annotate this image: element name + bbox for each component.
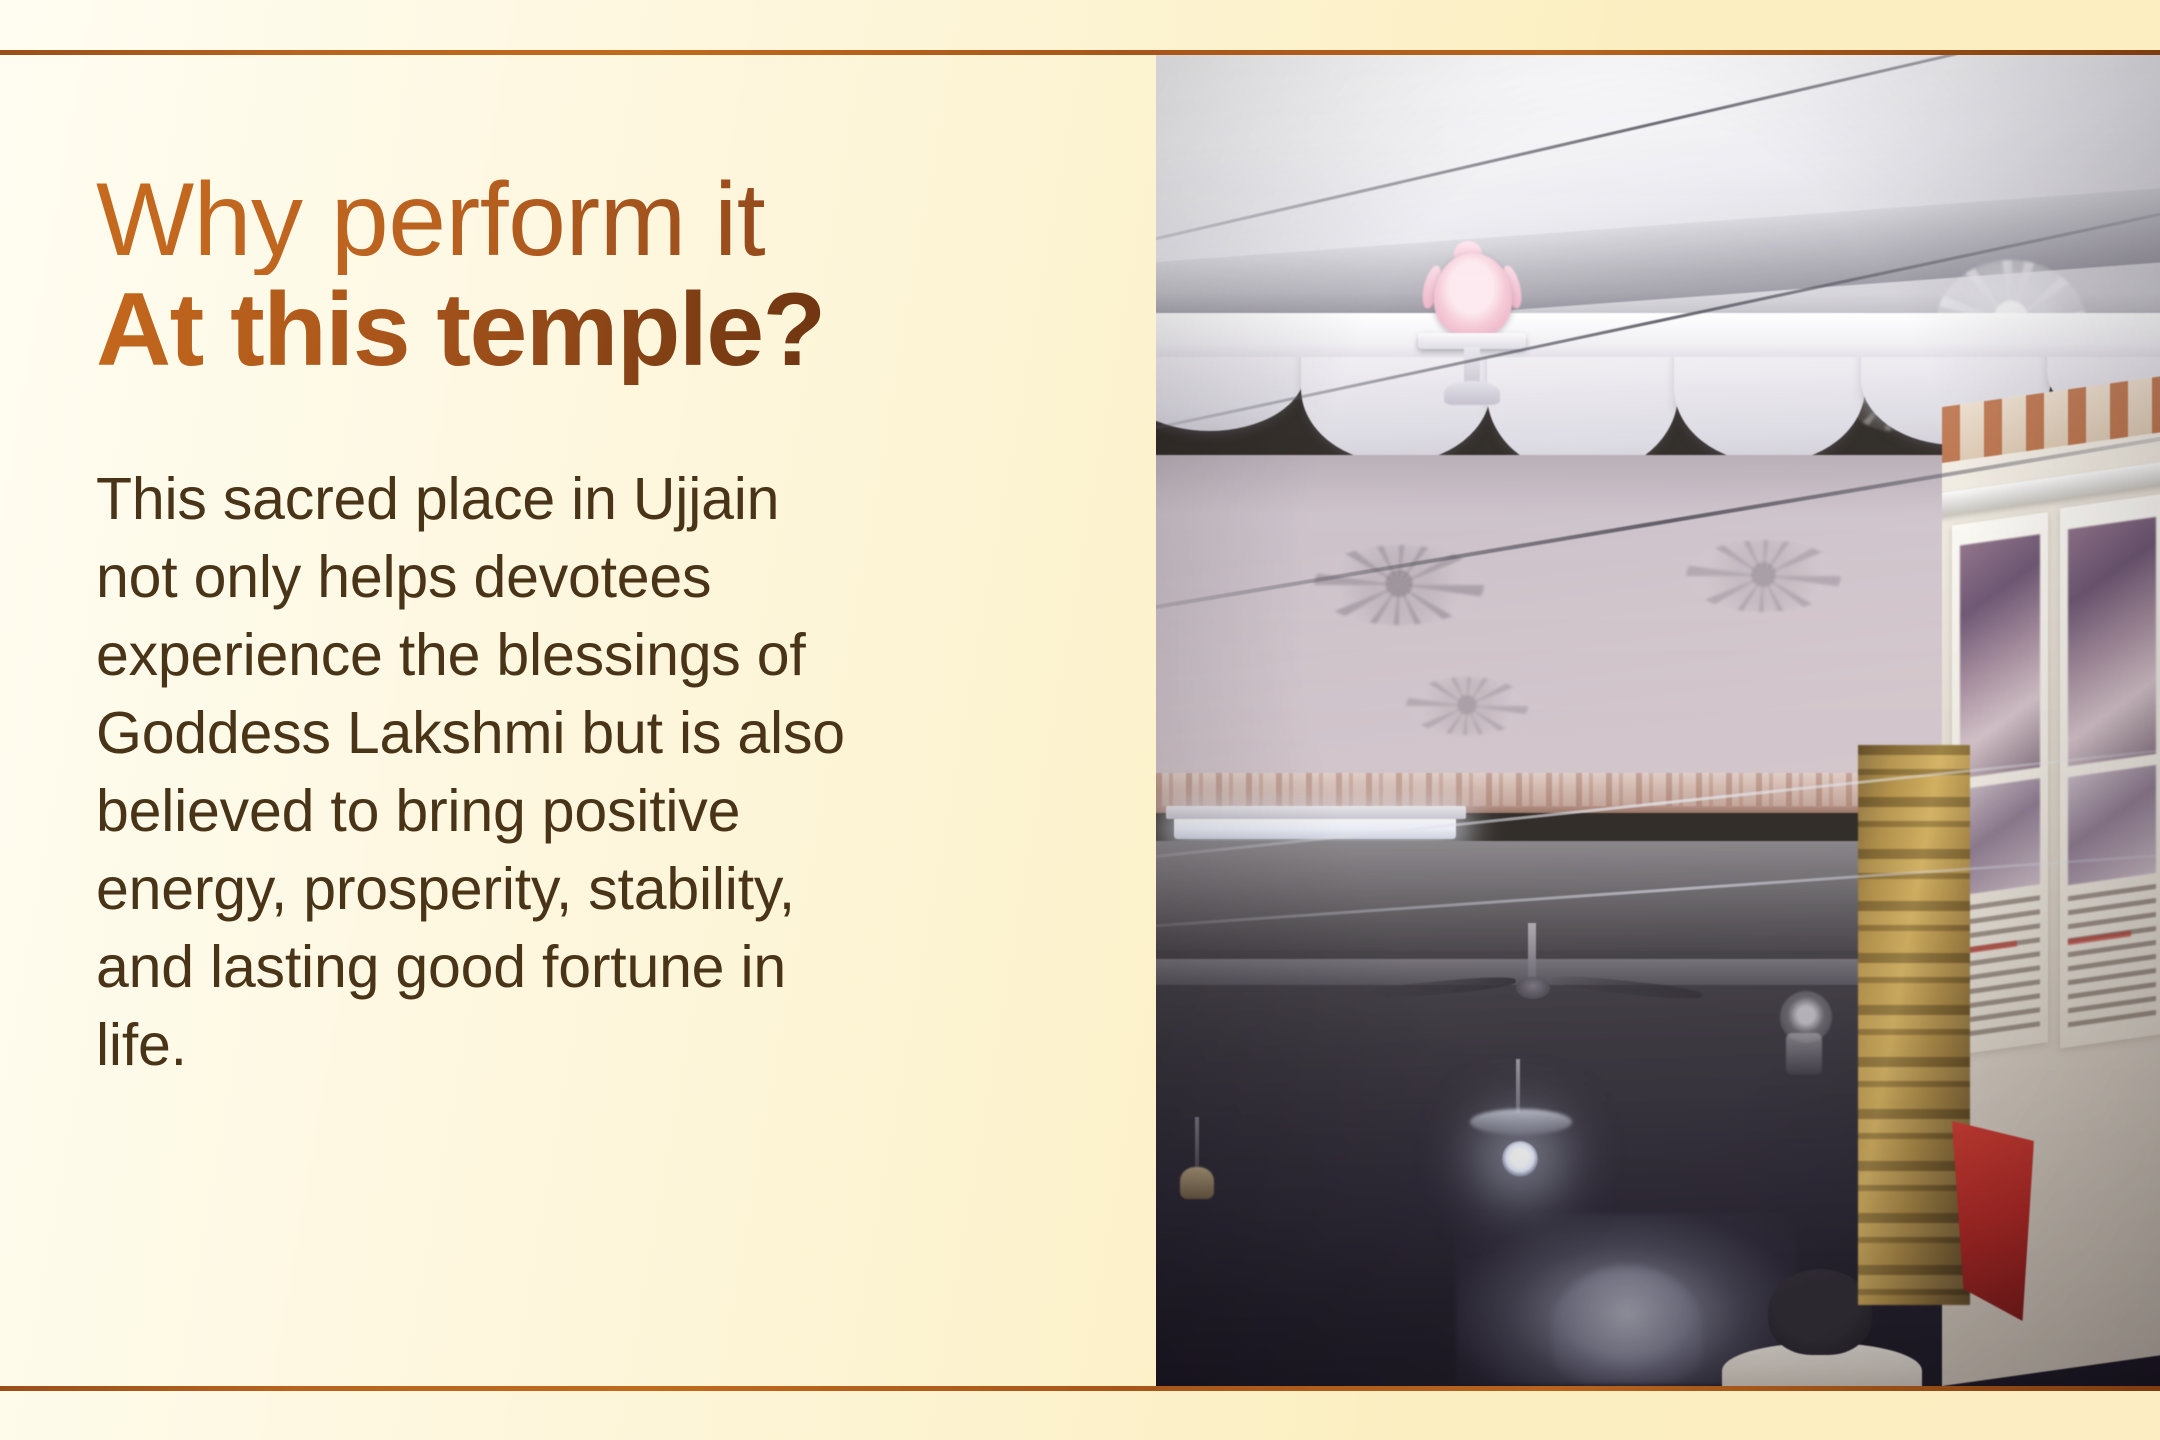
- banner-photo: [1960, 534, 2041, 779]
- fan-blade: [1366, 974, 1517, 1000]
- fan-blade: [1552, 973, 1703, 1002]
- devotee-head: [1768, 1269, 1872, 1355]
- idol-bracket-base: [1444, 381, 1500, 405]
- wall-fan-mount: [1786, 1033, 1822, 1075]
- lamp-shade: [1470, 1109, 1572, 1135]
- deity-silhouette: [1552, 1265, 1702, 1383]
- column-carving: [1858, 745, 1970, 1305]
- tube-bracket: [1166, 806, 1466, 819]
- slide-canvas: Why perform it At this temple? This sacr…: [0, 0, 2160, 1440]
- idol-figure: [1434, 253, 1512, 335]
- banner-text: [1960, 895, 2041, 1044]
- bell-rope: [1195, 1117, 1199, 1169]
- headline-line-2: At this temple?: [96, 275, 1066, 385]
- ganesha-idol: [1418, 253, 1526, 403]
- hanging-lamp: [1464, 1065, 1574, 1193]
- temple-photo: [1156, 55, 2160, 1386]
- carved-column: [1858, 745, 1970, 1305]
- fan-down-rod: [1528, 923, 1536, 979]
- banner-text: [2068, 884, 2155, 1037]
- temple-bell-small: [1178, 1159, 1218, 1205]
- hindi-banner: [2060, 494, 2160, 1049]
- body-paragraph: This sacred place in Ujjain not only hel…: [96, 461, 876, 1084]
- lamp-cord: [1516, 1059, 1520, 1113]
- fan-hub: [1516, 977, 1550, 999]
- ceiling-fan: [1370, 969, 1700, 1041]
- bell-body: [1180, 1167, 1214, 1199]
- top-divider-rule: [0, 50, 2160, 55]
- page-title: Why perform it At this temple?: [96, 165, 1066, 385]
- bottom-divider-rule: [0, 1386, 2160, 1391]
- ceiling-medallion: [1406, 677, 1528, 735]
- lamp-bulb: [1502, 1141, 1538, 1177]
- banner-photo: [2068, 765, 2155, 885]
- headline-line-1: Why perform it: [96, 165, 1066, 275]
- banner-photo: [1960, 778, 2041, 895]
- banner-photo: [2068, 517, 2155, 767]
- text-panel: Why perform it At this temple? This sacr…: [0, 55, 1156, 1386]
- temple-photo-scene: [1156, 55, 2160, 1386]
- ceiling-medallion: [1686, 540, 1841, 612]
